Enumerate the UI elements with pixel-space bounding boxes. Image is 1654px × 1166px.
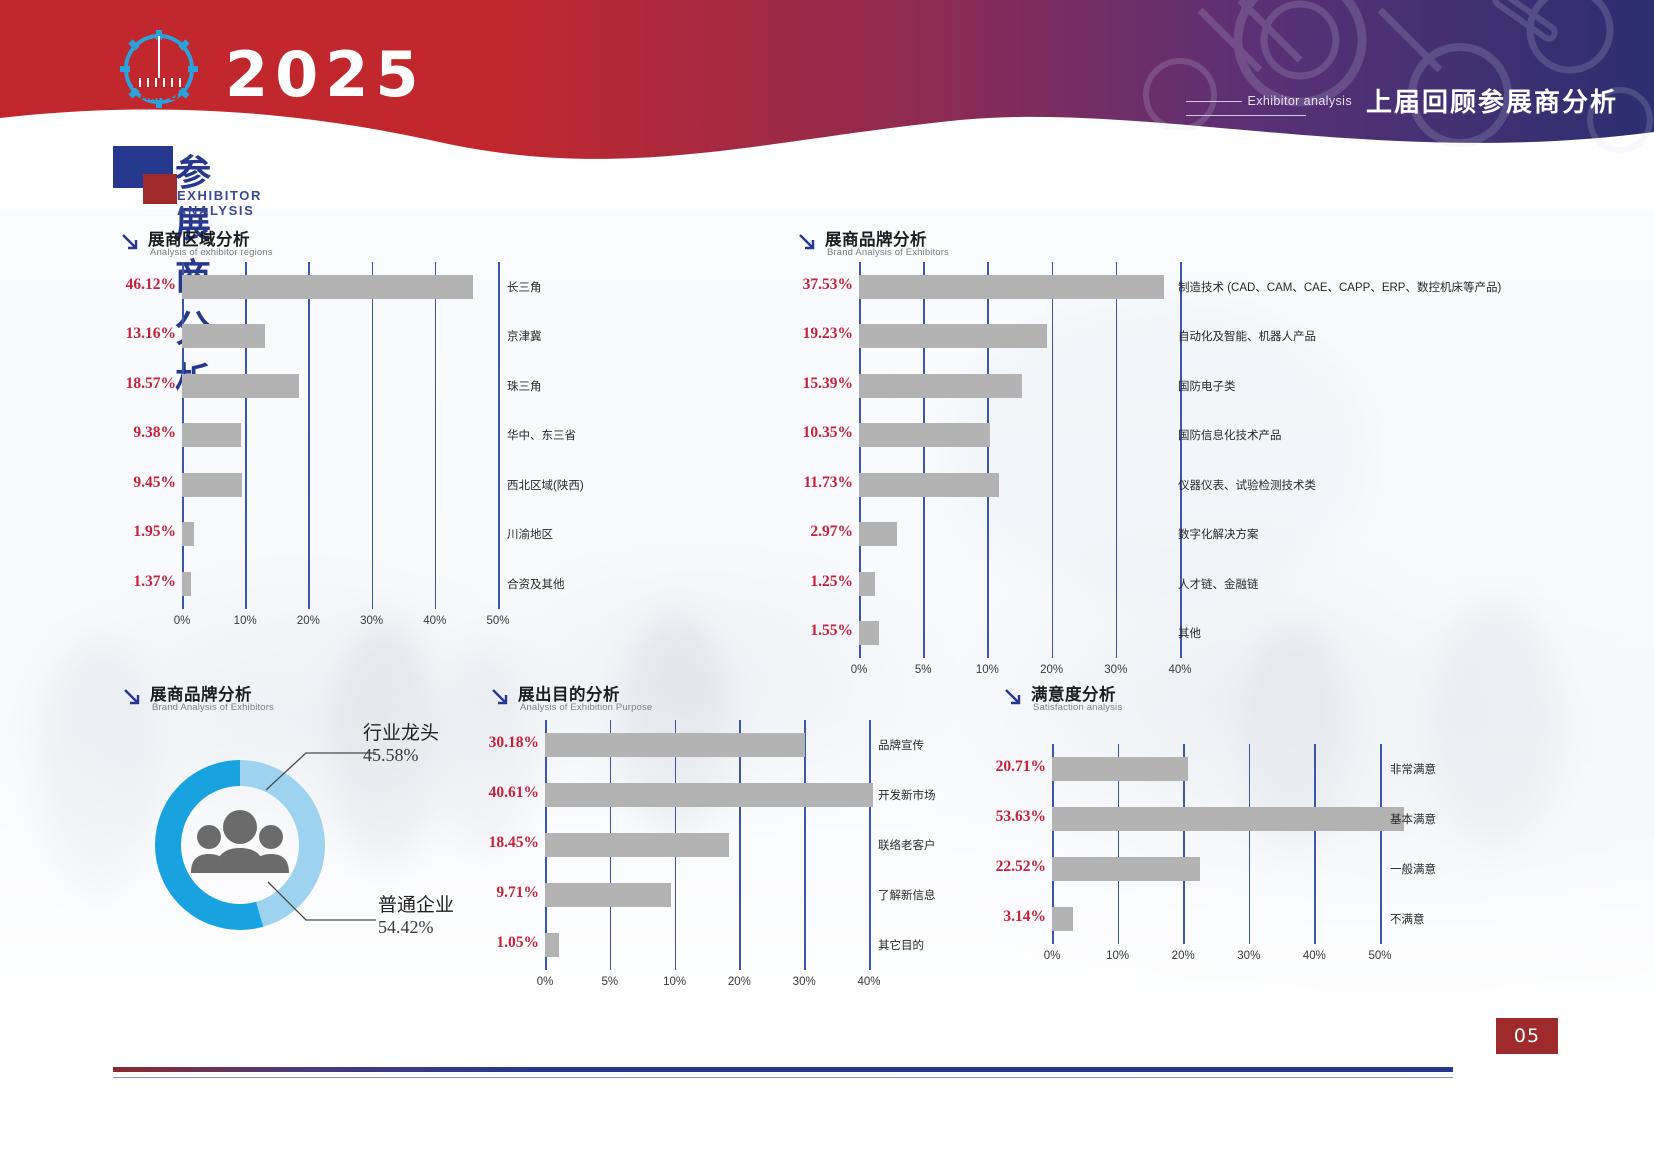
bar (545, 833, 729, 857)
bar-category-label: 自动化及智能、机器人产品 (1178, 328, 1316, 344)
axis-tick-label: 50% (468, 615, 528, 627)
bar-value-label: 18.45% (405, 834, 539, 852)
bar (1052, 857, 1200, 881)
header-en-label: Exhibitor analysis (1186, 94, 1352, 108)
grid-line (372, 262, 374, 609)
bar-category-label: 京津冀 (507, 328, 542, 344)
donut-label-leader: 行业龙头 45.58% (363, 718, 439, 766)
bar (545, 933, 559, 957)
bar-category-label: 珠三角 (507, 378, 542, 394)
bar-category-label: 基本满意 (1390, 811, 1436, 827)
bar (545, 733, 805, 757)
bar-value-label: 15.39% (719, 375, 853, 393)
amtd-logo: AMTD (105, 28, 213, 110)
bar-category-label: 品牌宣传 (878, 737, 924, 753)
bar (545, 783, 873, 807)
bar-value-label: 9.38% (42, 424, 176, 442)
logo-text: AMTD (139, 89, 178, 103)
bar (182, 572, 191, 596)
bar-category-label: 数字化解决方案 (1178, 526, 1259, 542)
bar-value-label: 10.35% (719, 424, 853, 442)
axis-tick-label: 0% (152, 615, 212, 627)
axis-tick-label: 30% (342, 615, 402, 627)
bar-value-label: 18.57% (42, 375, 176, 393)
header-banner: AMTD 2025 Exhibitor analysis 上届回顾参展商分析 (0, 0, 1654, 210)
bar-category-label: 开发新市场 (878, 787, 936, 803)
section-subtitle: Brand Analysis of Exhibitors (152, 702, 274, 713)
grid-line (739, 720, 741, 970)
title-square-red (143, 174, 177, 204)
slide-page: AMTD 2025 Exhibitor analysis 上届回顾参展商分析 参… (0, 0, 1654, 1166)
bar (1052, 807, 1404, 831)
bar-value-label: 2.97% (719, 523, 853, 541)
axis-tick-label: 5% (580, 976, 640, 988)
footer-line-thin (113, 1077, 1453, 1079)
section-subtitle: Analysis of exhibitor regions (150, 247, 273, 258)
footer-line (113, 1067, 1453, 1072)
page-title-en: EXHIBITOR ANALYSIS (177, 188, 262, 218)
axis-tick-label: 40% (1284, 950, 1344, 962)
axis-tick-label: 40% (1150, 664, 1210, 676)
bar-category-label: 其他 (1178, 625, 1201, 641)
bar-value-label: 20.71% (912, 758, 1046, 776)
bar (859, 324, 1047, 348)
bar (859, 374, 1022, 398)
page-number-badge: 05 (1496, 1018, 1558, 1054)
grid-line (804, 720, 806, 970)
arrow-down-right-icon (122, 687, 144, 709)
bar-value-label: 1.55% (719, 622, 853, 640)
bar (182, 275, 473, 299)
bar-category-label: 不满意 (1390, 911, 1425, 927)
bar (1052, 757, 1188, 781)
grid-line (498, 262, 500, 609)
arrow-down-right-icon (120, 232, 142, 254)
bar (182, 473, 242, 497)
axis-tick-label: 40% (405, 615, 465, 627)
bar-value-label: 1.37% (42, 573, 176, 591)
bar-value-label: 22.52% (912, 858, 1046, 876)
bar (1052, 907, 1073, 931)
header-right-title: Exhibitor analysis 上届回顾参展商分析 (1186, 82, 1618, 119)
bar-value-label: 1.95% (42, 523, 176, 541)
bar-value-label: 9.45% (42, 474, 176, 492)
grid-line (435, 262, 437, 609)
bar (859, 621, 879, 645)
grid-line (1380, 744, 1382, 944)
donut-label-leader-value: 45.58% (363, 745, 439, 766)
bar-value-label: 53.63% (912, 808, 1046, 826)
year-title: 2025 (225, 38, 426, 111)
bar (859, 275, 1164, 299)
section-subtitle: Brand Analysis of Exhibitors (827, 247, 949, 258)
axis-tick-label: 20% (278, 615, 338, 627)
bar-value-label: 11.73% (719, 474, 853, 492)
axis-tick-label: 30% (1219, 950, 1279, 962)
axis-tick-label: 0% (829, 664, 889, 676)
section-subtitle: Satisfaction analysis (1033, 702, 1122, 713)
bar-value-label: 40.61% (405, 784, 539, 802)
axis-tick-label: 30% (1086, 664, 1146, 676)
grid-line (987, 262, 989, 658)
bar-category-label: 非常满意 (1390, 761, 1436, 777)
axis-tick-label: 50% (1350, 950, 1410, 962)
axis-tick-label: 40% (839, 976, 899, 988)
bar (182, 374, 299, 398)
axis-tick-label: 0% (515, 976, 575, 988)
grid-line (923, 262, 925, 658)
grid-line (1052, 262, 1054, 658)
axis-tick-label: 10% (645, 976, 705, 988)
bar-category-label: 长三角 (507, 279, 542, 295)
donut-label-leader-name: 行业龙头 (363, 718, 439, 745)
bar (182, 522, 194, 546)
bar (859, 473, 999, 497)
bar-category-label: 华中、东三省 (507, 427, 576, 443)
donut-label-general: 普通企业 54.42% (378, 890, 454, 938)
people-icon (191, 810, 289, 873)
bar-value-label: 46.12% (42, 276, 176, 294)
bar (182, 423, 241, 447)
grid-line (869, 720, 871, 970)
bar (182, 324, 265, 348)
axis-tick-label: 20% (709, 976, 769, 988)
arrow-down-right-icon (797, 232, 819, 254)
donut-callout-line-general (258, 880, 378, 930)
bar-value-label: 13.16% (42, 325, 176, 343)
bar-value-label: 19.23% (719, 325, 853, 343)
axis-tick-label: 20% (1022, 664, 1082, 676)
arrow-down-right-icon (490, 687, 512, 709)
bar-value-label: 3.14% (912, 908, 1046, 926)
bar (859, 522, 897, 546)
donut-label-general-value: 54.42% (378, 917, 454, 938)
bar-category-label: 其它目的 (878, 937, 924, 953)
donut-label-general-name: 普通企业 (378, 890, 454, 917)
axis-tick-label: 30% (774, 976, 834, 988)
bar-category-label: 制造技术 (CAD、CAM、CAE、CAPP、ERP、数控机床等产品) (1178, 279, 1501, 295)
bar-category-label: 仪器仪表、试验检测技术类 (1178, 477, 1316, 493)
grid-line (1314, 744, 1316, 944)
axis-tick-label: 10% (215, 615, 275, 627)
grid-line (859, 262, 861, 658)
grid-line (1180, 262, 1182, 658)
bar-category-label: 一般满意 (1390, 861, 1436, 877)
bar-category-label: 了解新信息 (878, 887, 936, 903)
axis-tick-label: 20% (1153, 950, 1213, 962)
bar-category-label: 人才链、金融链 (1178, 576, 1259, 592)
grid-line (245, 262, 247, 609)
bar-category-label: 川渝地区 (507, 526, 553, 542)
bar (859, 572, 875, 596)
axis-tick-label: 10% (1088, 950, 1148, 962)
bar-category-label: 联络老客户 (878, 837, 936, 853)
axis-tick-label: 10% (957, 664, 1017, 676)
bar-category-label: 西北区域(陕西) (507, 477, 584, 493)
grid-line (1249, 744, 1251, 944)
bar-value-label: 37.53% (719, 276, 853, 294)
bar (545, 883, 671, 907)
grid-line (1116, 262, 1118, 658)
section-subtitle: Analysis of Exhibition Purpose (520, 702, 652, 713)
axis-tick-label: 0% (1022, 950, 1082, 962)
donut-callout-line-leader (260, 735, 380, 795)
bar-category-label: 国防信息化技术产品 (1178, 427, 1282, 443)
bar (859, 423, 990, 447)
header-cn-title: 上届回顾参展商分析 (1366, 82, 1618, 119)
bar-category-label: 国防电子类 (1178, 378, 1236, 394)
axis-tick-label: 5% (893, 664, 953, 676)
arrow-down-right-icon (1003, 687, 1025, 709)
bar-category-label: 合资及其他 (507, 576, 565, 592)
bar-value-label: 1.25% (719, 573, 853, 591)
grid-line (308, 262, 310, 609)
